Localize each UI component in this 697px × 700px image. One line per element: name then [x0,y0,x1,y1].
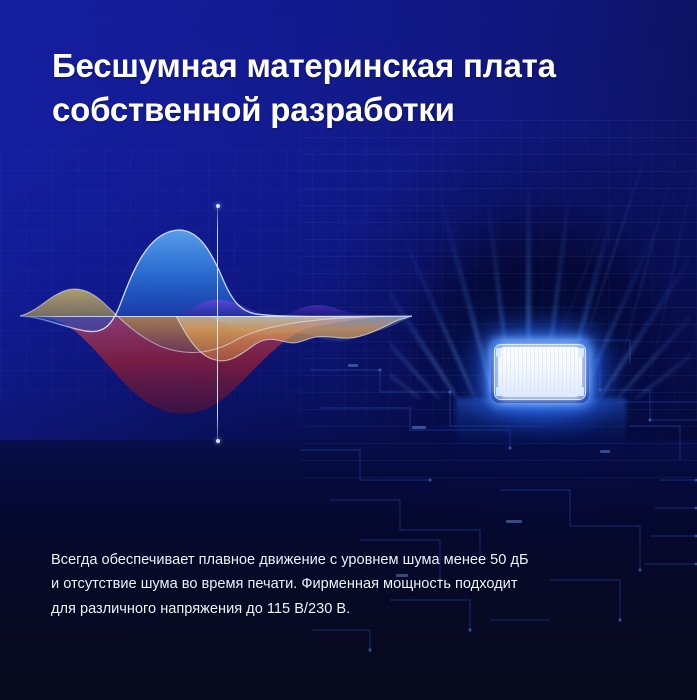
chip-notch-bottom-right [579,387,584,396]
chip-die [498,347,582,397]
motherboard-chip [491,341,589,403]
page-title: Бесшумная материнская плата собственной … [52,44,652,131]
body-line-3: для различного напряжения до 115 В/230 В… [51,597,633,621]
page-title-line-1: Бесшумная материнская плата [52,47,556,84]
chip-notch-bottom-left [496,387,501,396]
body-line-1: Всегда обеспечивает плавное движение с у… [51,548,633,572]
page-title-line-2: собственной разработки [52,88,652,132]
waveform-horizontal-axis [20,316,412,317]
waveform-axis-dot-bottom [216,439,220,443]
chip-notch-top-left [496,348,501,357]
body-description: Всегда обеспечивает плавное движение с у… [51,548,633,621]
body-line-2: и отсутствие шума во время печати. Фирме… [51,572,633,596]
chip-notch-top-right [579,348,584,357]
waveform-vertical-axis [217,205,218,443]
noise-waveform-visualization [0,185,440,440]
promo-banner: Бесшумная материнская плата собственной … [0,0,697,700]
waveform-curves [0,185,440,440]
waveform-axis-dot-top [216,204,220,208]
wave-area-purple [172,300,412,316]
chip-socket-base [456,398,626,446]
